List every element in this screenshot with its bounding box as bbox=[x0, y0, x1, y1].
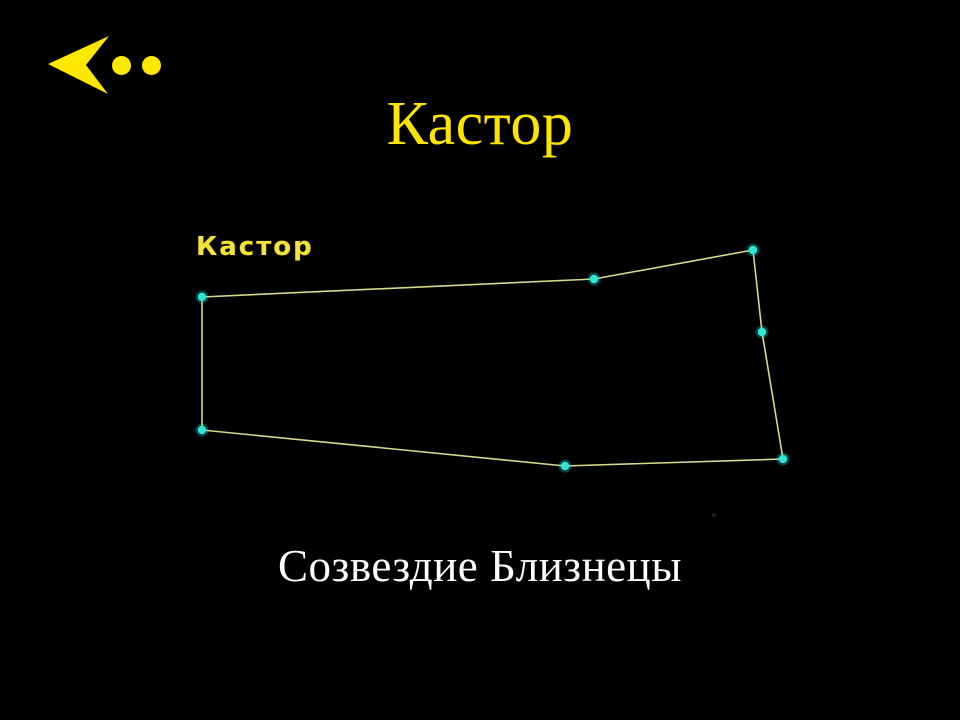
star-point-top-right bbox=[749, 246, 757, 254]
constellation-line bbox=[202, 279, 594, 297]
constellation-line bbox=[565, 459, 783, 466]
star-point-bottom-right bbox=[779, 455, 787, 463]
constellation-lines bbox=[202, 250, 783, 466]
star-point-bottom-middle bbox=[561, 462, 569, 470]
constellation-figure: Кастор bbox=[0, 0, 960, 720]
constellation-line bbox=[202, 430, 565, 466]
star-point-bottom-left bbox=[198, 426, 206, 434]
caption: Созвездие Близнецы bbox=[0, 543, 960, 590]
constellation-line bbox=[753, 250, 762, 332]
star-point-right-middle bbox=[758, 328, 766, 336]
slide-canvas: Кастор Кастор Созвездие Близнецы bbox=[0, 0, 960, 720]
background-speck bbox=[712, 513, 716, 517]
constellation-line bbox=[594, 250, 753, 279]
constellation-diagram bbox=[0, 0, 960, 720]
star-point-top-middle bbox=[590, 275, 598, 283]
constellation-line bbox=[762, 332, 783, 459]
star-label-kastor: Кастор bbox=[196, 234, 314, 260]
star-point-top-left bbox=[198, 293, 206, 301]
